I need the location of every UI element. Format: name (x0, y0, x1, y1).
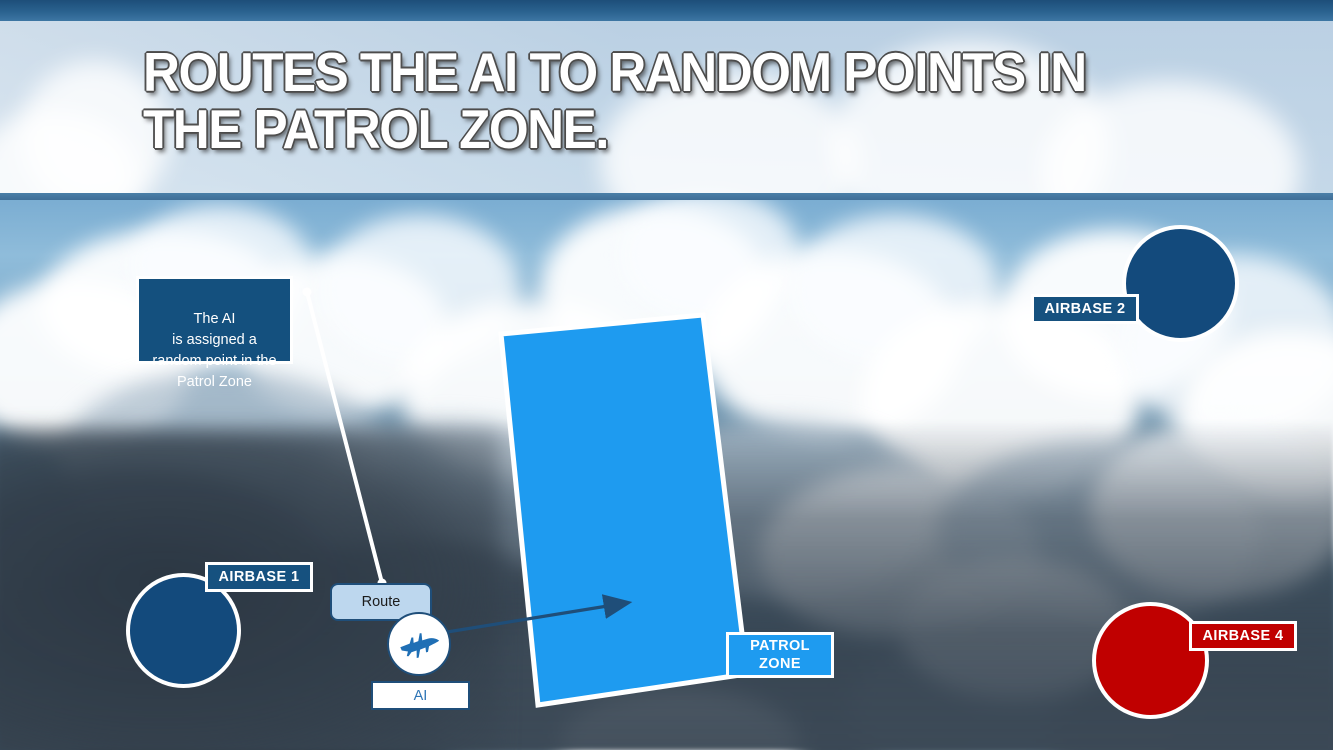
diagram-layer: AIRBASE 1 AIRBASE 2 AIRBASE 4 PATROL ZON… (0, 0, 1333, 750)
ai-label-text: AI (414, 688, 428, 704)
route-label-text: Route (362, 594, 401, 610)
airbase-1-label-text: AIRBASE 1 (219, 569, 300, 585)
airbase-4-circle[interactable] (1092, 602, 1209, 719)
patrol-zone-label[interactable]: PATROL ZONE (726, 632, 834, 678)
patrol-zone-label-text: PATROL ZONE (750, 637, 810, 673)
ai-label[interactable]: AI (371, 681, 470, 710)
fighter-jet-icon[interactable] (387, 612, 451, 676)
slide-canvas: ROUTES THE AI TO RANDOM POINTS IN THE PA… (0, 0, 1333, 750)
airbase-2-label-text: AIRBASE 2 (1045, 301, 1126, 317)
fighter-jet-glyph (396, 621, 442, 667)
airbase-2-circle[interactable] (1122, 225, 1239, 342)
airbase-4-label[interactable]: AIRBASE 4 (1189, 621, 1297, 651)
patrol-zone-shape[interactable] (494, 307, 754, 711)
airbase-1-label[interactable]: AIRBASE 1 (205, 562, 313, 592)
airbase-2-label[interactable]: AIRBASE 2 (1031, 294, 1139, 324)
airbase-4-label-text: AIRBASE 4 (1203, 628, 1284, 644)
callout-box[interactable]: The AI is assigned a random point in the… (136, 276, 293, 364)
callout-text: The AI is assigned a random point in the… (152, 311, 276, 390)
